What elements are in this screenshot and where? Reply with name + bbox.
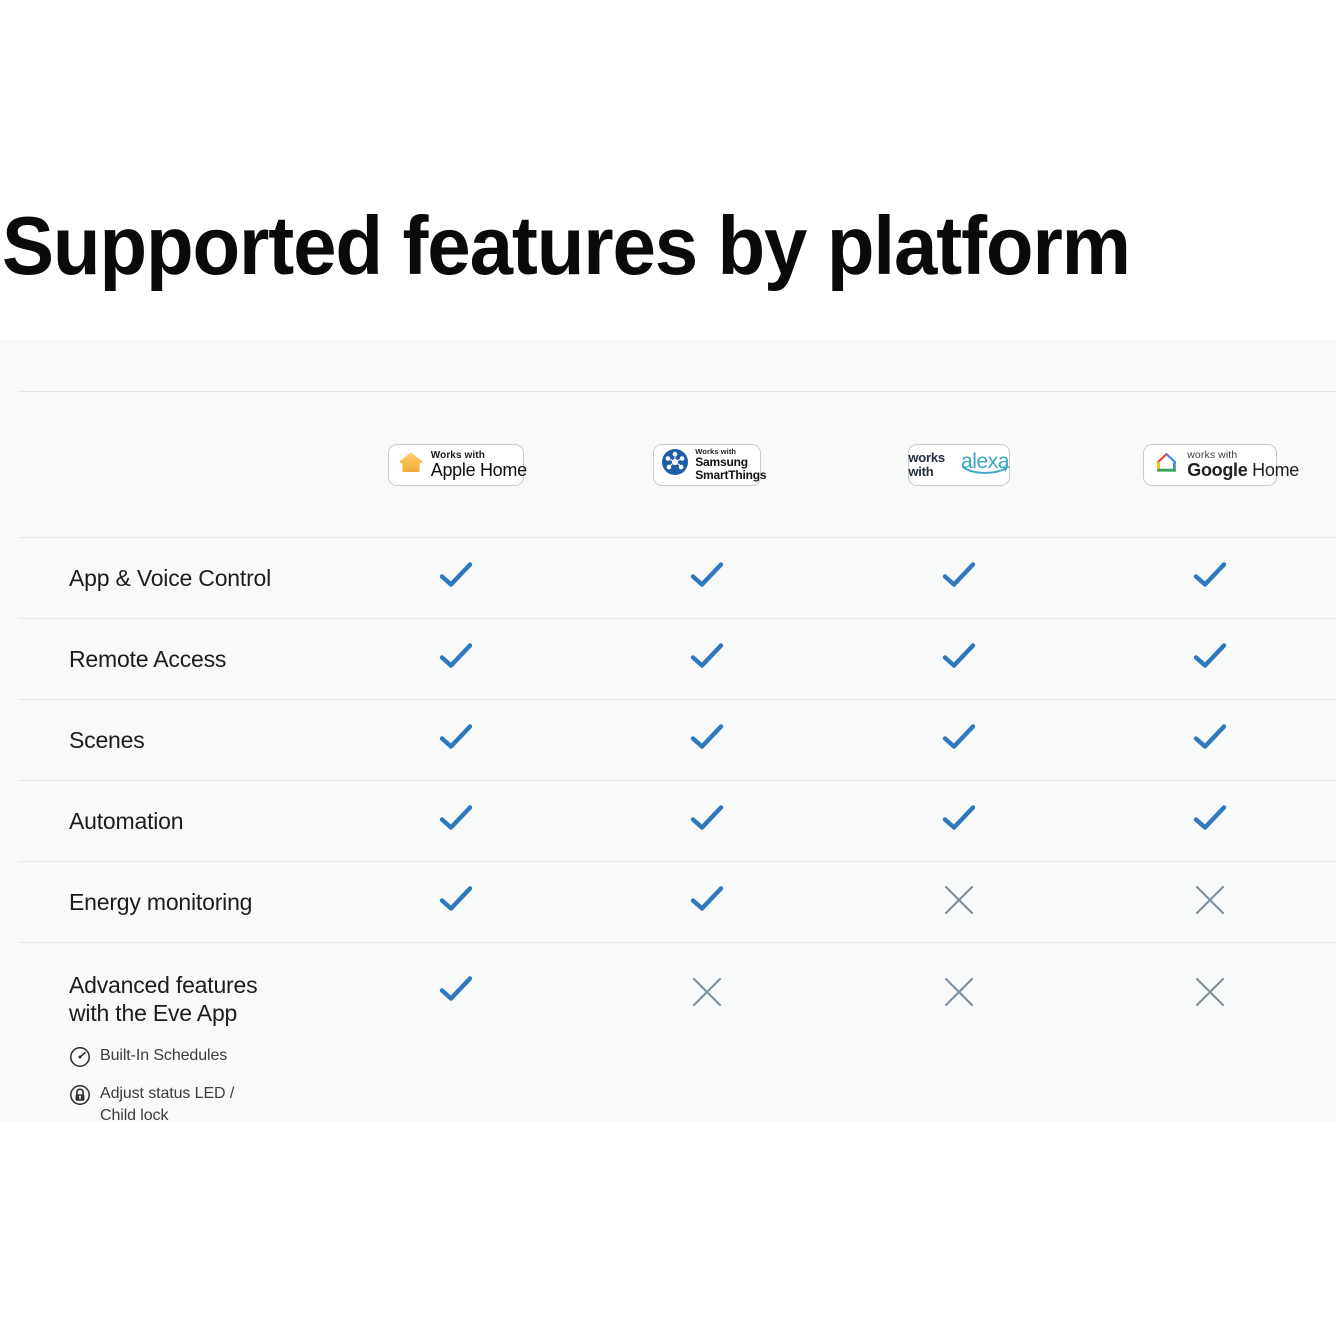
table-grid: Works with Apple Home <box>0 392 1336 1148</box>
check-icon <box>439 642 473 677</box>
table-row: Energy monitoring <box>0 861 1336 942</box>
check-icon <box>1193 561 1227 596</box>
page-title: Supported features by platform <box>2 198 1130 294</box>
list-item: Adjust status LED / Child lock <box>69 1083 330 1127</box>
platform-header-apple-home: Works with Apple Home <box>330 392 582 537</box>
platform-header-google-home: works with Google Home <box>1085 392 1336 537</box>
check-icon <box>942 723 976 758</box>
mark-cell-samsung <box>582 642 834 677</box>
samsung-badge-name-line1: Samsung <box>695 456 766 469</box>
feature-label: Automation <box>0 807 330 835</box>
check-icon <box>690 804 724 839</box>
mark-cell-google-home <box>1085 642 1336 677</box>
mark-cell-apple-home <box>330 561 582 596</box>
cross-icon <box>942 883 976 922</box>
check-icon <box>942 561 976 596</box>
mark-cell-alexa <box>833 642 1085 677</box>
samsung-smartthings-hub-icon <box>661 448 689 481</box>
advanced-feature-title: Advanced features with the Eve App <box>69 971 330 1027</box>
google-badge-name-light: Home <box>1247 460 1299 480</box>
check-icon <box>439 723 473 758</box>
child-lock-icon <box>69 1084 91 1112</box>
table-row: Automation <box>0 780 1336 861</box>
cross-icon <box>1193 883 1227 922</box>
mark-cell-apple-home <box>330 723 582 758</box>
platform-header-alexa: works with alexa <box>833 392 1085 537</box>
mark-cell-apple-home <box>330 885 582 920</box>
cross-icon <box>1193 975 1227 1014</box>
google-badge-name-bold: Google <box>1187 460 1247 480</box>
list-item-label: Adjust status LED / Child lock <box>100 1083 234 1127</box>
mark-cell-alexa <box>833 561 1085 596</box>
check-icon <box>439 885 473 920</box>
feature-label: Energy monitoring <box>0 888 330 916</box>
alexa-badge-works: works <box>908 451 945 465</box>
check-icon <box>1193 723 1227 758</box>
check-icon <box>439 975 473 1010</box>
feature-label: App & Voice Control <box>0 564 330 592</box>
mark-cell-alexa <box>833 943 1085 1014</box>
mark-cell-samsung <box>582 943 834 1014</box>
amazon-alexa-smile-icon <box>962 459 1010 479</box>
table-header-row: Works with Apple Home <box>0 392 1336 537</box>
check-icon <box>1193 642 1227 677</box>
check-icon <box>690 723 724 758</box>
header-label-spacer <box>0 392 330 537</box>
feature-label: Scenes <box>0 726 330 754</box>
table-row: Scenes <box>0 699 1336 780</box>
google-home-house-icon <box>1153 450 1180 480</box>
samsung-smartthings-badge[interactable]: Works with Samsung SmartThings <box>653 444 761 486</box>
check-icon <box>942 804 976 839</box>
mark-cell-samsung <box>582 561 834 596</box>
list-item-label: Built-In Schedules <box>100 1045 227 1067</box>
check-icon <box>690 642 724 677</box>
comparison-table-page: Supported features by platform <box>0 0 1336 1336</box>
check-icon <box>942 642 976 677</box>
mark-cell-google-home <box>1085 723 1336 758</box>
check-icon <box>690 561 724 596</box>
list-item: Built-In Schedules <box>69 1045 330 1074</box>
mark-cell-apple-home <box>330 804 582 839</box>
apple-badge-name: Apple Home <box>431 461 527 480</box>
check-icon <box>1193 804 1227 839</box>
apple-home-badge[interactable]: Works with Apple Home <box>388 444 524 486</box>
table-row: Remote Access <box>0 618 1336 699</box>
mark-cell-alexa <box>833 883 1085 922</box>
check-icon <box>439 804 473 839</box>
cross-icon <box>942 975 976 1014</box>
mark-cell-apple-home <box>330 642 582 677</box>
mark-cell-samsung <box>582 804 834 839</box>
alexa-badge-with: with <box>908 465 945 479</box>
mark-cell-google-home <box>1085 561 1336 596</box>
apple-home-house-icon <box>398 450 424 479</box>
mark-cell-samsung <box>582 723 834 758</box>
samsung-badge-name-line2: SmartThings <box>695 469 766 482</box>
supported-features-table: Works with Apple Home <box>0 340 1336 1122</box>
platform-header-samsung-smartthings: Works with Samsung SmartThings <box>582 392 834 537</box>
alexa-badge[interactable]: works with alexa <box>908 444 1010 486</box>
check-icon <box>690 885 724 920</box>
mark-cell-apple-home <box>330 943 582 1010</box>
mark-cell-samsung <box>582 885 834 920</box>
mark-cell-alexa <box>833 723 1085 758</box>
alexa-badge-wordmark-wrap: alexa <box>961 452 1009 478</box>
table-row-advanced: Advanced features with the Eve App Built <box>0 942 1336 1148</box>
mark-cell-google-home <box>1085 943 1336 1014</box>
apple-badge-small-text: Works with <box>431 450 527 461</box>
advanced-feature-cell: Advanced features with the Eve App Built <box>0 943 330 1136</box>
table-row: App & Voice Control <box>0 537 1336 618</box>
schedule-clock-icon <box>69 1046 91 1074</box>
advanced-sub-list: Built-In Schedules <box>69 1045 330 1127</box>
google-badge-name: Google Home <box>1187 461 1299 480</box>
mark-cell-alexa <box>833 804 1085 839</box>
mark-cell-google-home <box>1085 883 1336 922</box>
feature-label: Remote Access <box>0 645 330 673</box>
cross-icon <box>690 975 724 1014</box>
google-home-badge[interactable]: works with Google Home <box>1143 444 1277 486</box>
check-icon <box>439 561 473 596</box>
mark-cell-google-home <box>1085 804 1336 839</box>
